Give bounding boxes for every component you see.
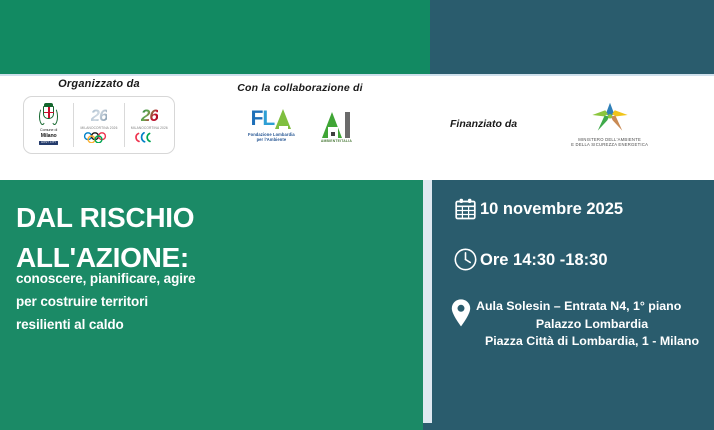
band-teal-block bbox=[430, 0, 714, 74]
logo-ministero-ambiente: MINISTERO DELL'AMBIENTE E DELLA SICUREZZ… bbox=[571, 100, 648, 148]
fla-triangle-a-icon bbox=[275, 108, 292, 129]
milano-crest-label: Comune di Milano bbox=[40, 128, 57, 139]
subtitle-line-3: resilienti al caldo bbox=[16, 313, 336, 336]
olympic-rings-icon bbox=[82, 132, 116, 143]
calendar-icon bbox=[450, 198, 480, 220]
event-time-row: Ore 14:30 -18:30 bbox=[450, 248, 608, 271]
title-panel: DAL RISCHIO ALL'AZIONE: conoscere, piani… bbox=[0, 180, 423, 430]
event-poster: Organizzato da Comune di Milano bbox=[0, 0, 714, 430]
event-location-value: Aula Solesin – Entrata N4, 1° piano Pala… bbox=[476, 298, 708, 351]
paralympic-agitos-icon bbox=[134, 132, 164, 143]
event-date-value: 10 novembre 2025 bbox=[480, 198, 623, 218]
credit-organized-by: Organizzato da Comune di Milano bbox=[0, 78, 198, 154]
location-line-1: Aula Solesin – Entrata N4, 1° piano bbox=[476, 298, 708, 316]
collaboration-title: Con la collaborazione di bbox=[200, 82, 400, 94]
event-time-value: Ore 14:30 -18:30 bbox=[480, 248, 608, 269]
olympic-caption: MILANOCORTINA 2026 bbox=[80, 126, 117, 130]
map-pin-icon bbox=[446, 298, 476, 328]
event-location-row: Aula Solesin – Entrata N4, 1° piano Pala… bbox=[446, 298, 712, 351]
collaboration-logo-row: FL Fondazione Lombardia per l'Ambiente A… bbox=[200, 108, 400, 143]
organized-by-title: Organizzato da bbox=[0, 78, 198, 90]
ministry-caption: MINISTERO DELL'AMBIENTE E DELLA SICUREZZ… bbox=[571, 137, 648, 149]
milano-host-city-tag: HOST CITY bbox=[39, 141, 58, 145]
logo-comune-di-milano: Comune di Milano HOST CITY bbox=[24, 99, 73, 151]
band-green-block bbox=[0, 0, 430, 74]
logo-strip: Organizzato da Comune di Milano bbox=[0, 76, 714, 180]
funded-by-title: Finanziato da bbox=[450, 118, 517, 130]
details-panel: 10 novembre 2025 Ore 14:30 -18:30 bbox=[432, 180, 714, 430]
page-title: DAL RISCHIO ALL'AZIONE: bbox=[16, 198, 411, 278]
location-line-3: Piazza Città di Lombardia, 1 - Milano bbox=[476, 333, 708, 351]
fla-wordmark: FL bbox=[251, 108, 293, 129]
fla-caption: Fondazione Lombardia per l'Ambiente bbox=[248, 132, 295, 144]
clock-icon bbox=[450, 248, 480, 271]
logo-milano-cortina-olympic: 26 MILANOCORTINA 2026 bbox=[74, 99, 123, 151]
headline-line-1: DAL RISCHIO bbox=[16, 198, 411, 238]
ministry-star-icon bbox=[589, 100, 631, 134]
lower-section: DAL RISCHIO ALL'AZIONE: conoscere, piani… bbox=[0, 180, 714, 430]
ai-mark-icon bbox=[322, 112, 350, 138]
top-color-band bbox=[0, 0, 714, 74]
organizer-logo-box: Comune di Milano HOST CITY 26 MILANOCORT… bbox=[23, 96, 175, 154]
logo-ambiente-italia: AMBIENTEITALIA bbox=[321, 112, 352, 143]
credit-collaboration: Con la collaborazione di FL Fondazione L… bbox=[200, 82, 400, 143]
subtitle-line-1: conoscere, pianificare, agire bbox=[16, 267, 336, 290]
panel-gap-divider bbox=[423, 180, 432, 423]
ambiente-italia-caption: AMBIENTEITALIA bbox=[321, 140, 352, 143]
credit-funded-by: Finanziato da MINISTERO DELL'AMBIENTE E … bbox=[402, 100, 714, 148]
logo-fla: FL Fondazione Lombardia per l'Ambiente bbox=[248, 108, 295, 143]
event-date-row: 10 novembre 2025 bbox=[450, 198, 623, 220]
subtitle-line-2: per costruire territori bbox=[16, 290, 336, 313]
paralympic-26-mark: 26 bbox=[141, 107, 158, 124]
milano-crest-icon bbox=[39, 105, 58, 127]
page-subtitle: conoscere, pianificare, agire per costru… bbox=[16, 267, 336, 337]
location-line-2: Palazzo Lombardia bbox=[476, 316, 708, 334]
paralympic-caption: MILANOCORTINA 2026 bbox=[131, 126, 168, 130]
olympic-26-mark: 26 bbox=[91, 107, 108, 124]
logo-milano-cortina-paralympic: 26 MILANOCORTINA 2026 bbox=[125, 99, 174, 151]
